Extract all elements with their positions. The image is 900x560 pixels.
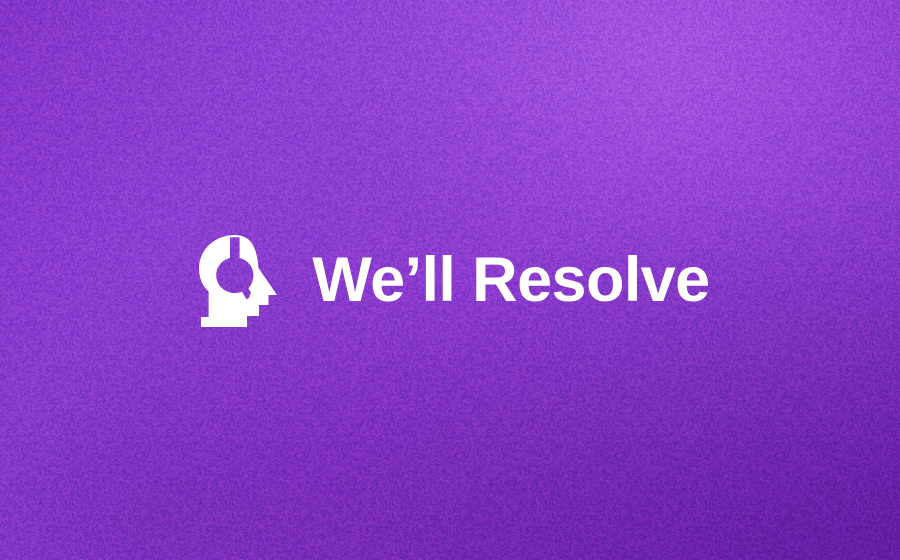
logo-card: We’ll Resolve <box>0 0 900 560</box>
headset-head-icon <box>190 235 286 327</box>
brand-wordmark: We’ll Resolve <box>312 249 709 312</box>
brand-lockup: We’ll Resolve <box>0 0 900 560</box>
